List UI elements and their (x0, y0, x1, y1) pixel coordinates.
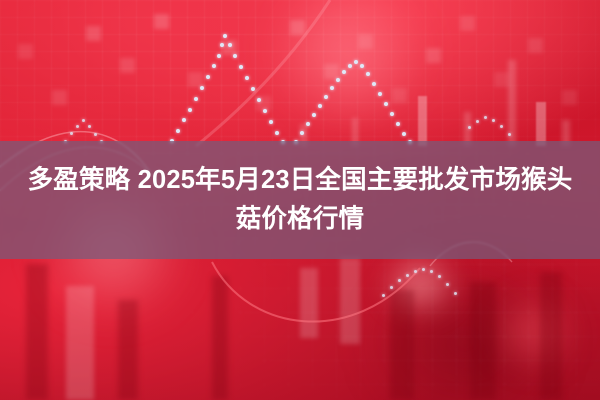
title-overlay-band: 多盈策略 2025年5月23日全国主要批发市场猴头菇价格行情 (0, 141, 600, 259)
page-title: 多盈策略 2025年5月23日全国主要批发市场猴头菇价格行情 (20, 161, 580, 239)
banner-image: 多盈策略 2025年5月23日全国主要批发市场猴头菇价格行情 (0, 0, 600, 400)
